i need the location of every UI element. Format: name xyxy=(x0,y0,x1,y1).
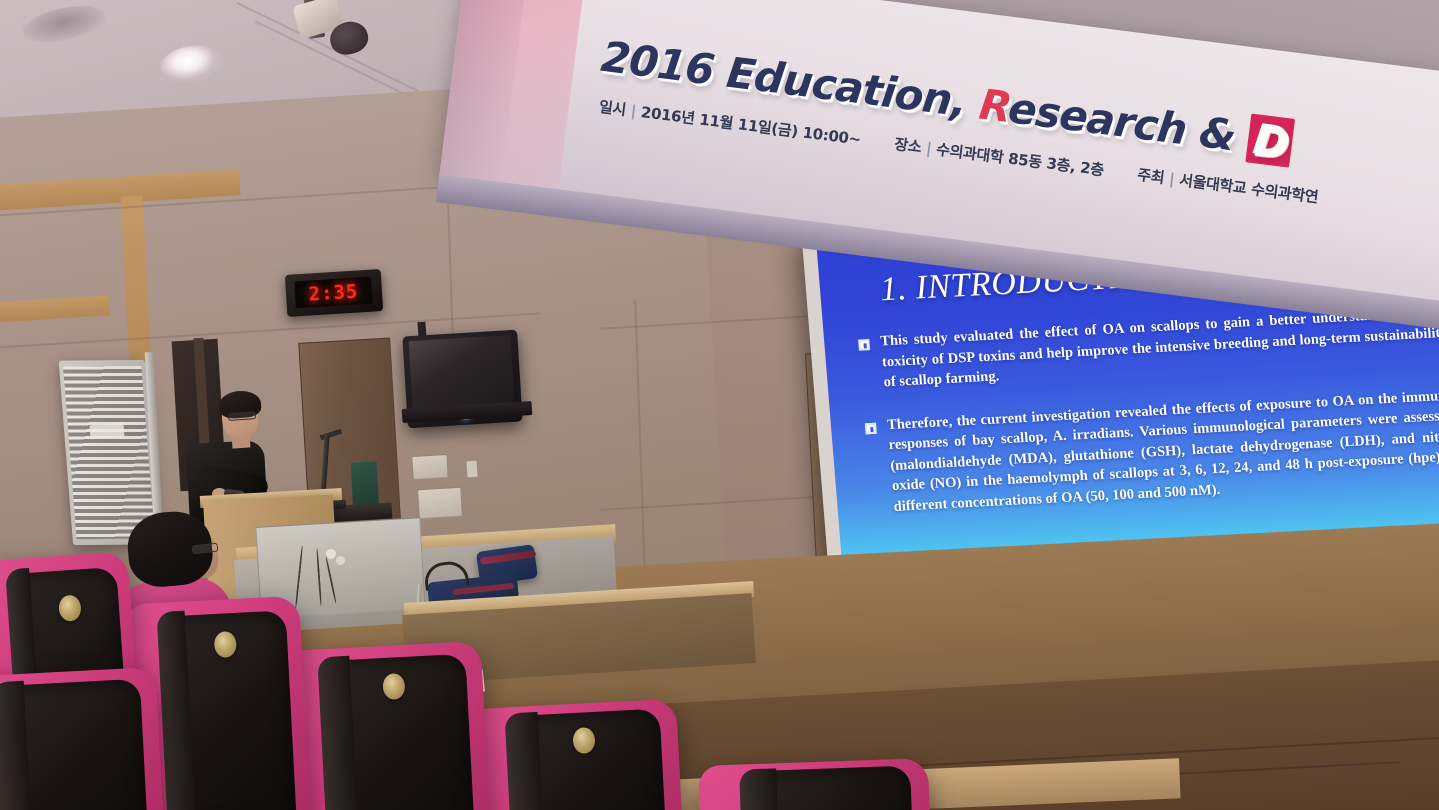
slide-bullet-item: Therefore, the current investigation rev… xyxy=(864,385,1439,518)
auditorium-seat xyxy=(466,699,684,810)
wall-sign-plate xyxy=(417,487,463,520)
banner-host-label: 주최 xyxy=(1136,166,1165,187)
monitor-screen xyxy=(409,335,515,410)
auditorium-seat xyxy=(281,641,491,810)
auditorium-seat xyxy=(698,758,932,810)
slide-bullet-list: This study evaluated the effect of OA on… xyxy=(858,302,1439,541)
auditorium-seat xyxy=(0,667,165,810)
banner-date-value: 2016년 11월 11일(금) 10:00~ xyxy=(640,103,862,149)
bullet-square-icon xyxy=(858,339,870,351)
clock-digits: 2:35 xyxy=(308,280,359,305)
banner-title-d: D xyxy=(1245,114,1295,168)
banner-host-value: 서울대학교 수의과학연 xyxy=(1178,171,1319,206)
digital-clock: 2:35 xyxy=(285,269,383,317)
banner-separator: | xyxy=(1168,170,1175,189)
banner-place-label: 장소 xyxy=(893,135,922,156)
banner-separator: | xyxy=(925,139,932,158)
banner-host-group: 주최|서울대학교 수의과학연 xyxy=(1136,166,1319,207)
bullet-square-icon xyxy=(865,423,877,435)
banner-place-value: 수의과대학 85동 3층, 2층 xyxy=(935,140,1105,179)
wall-sign-plate xyxy=(411,454,448,480)
banner-separator: | xyxy=(630,102,637,121)
seat-rim xyxy=(740,768,781,810)
slide-bullet-text: Therefore, the current investigation rev… xyxy=(886,385,1439,517)
lecture-hall-photo: 2:35 1. INTRODUCTION This study evaluate… xyxy=(0,0,1439,810)
cable-connector xyxy=(336,556,345,565)
banner-title-mid: esearch & xyxy=(1006,83,1252,162)
hvac-label-plate xyxy=(90,423,125,440)
banner-date-label: 일시 xyxy=(598,98,627,119)
wall-switch-plate xyxy=(465,460,478,479)
clock-face: 2:35 xyxy=(294,277,373,309)
banner-place-group: 장소|수의과대학 85동 3층, 2층 xyxy=(893,135,1105,179)
